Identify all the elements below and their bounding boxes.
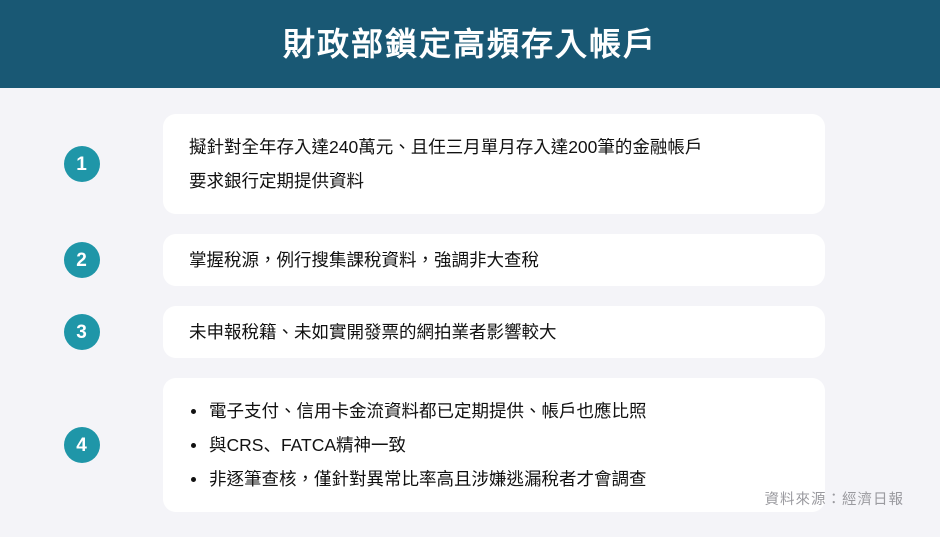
list-item: 2 掌握稅源，例行搜集課稅資料，強調非大查稅 bbox=[0, 234, 825, 286]
item-card: 未申報稅籍、未如實開發票的網拍業者影響較大 bbox=[163, 306, 825, 358]
header-bar: 財政部鎖定高頻存入帳戶 bbox=[0, 0, 940, 88]
bullet-list: 電子支付、信用卡金流資料都已定期提供、帳戶也應比照 與CRS、FATCA精神一致… bbox=[189, 394, 801, 496]
item-card: 掌握稅源，例行搜集課稅資料，強調非大查稅 bbox=[163, 234, 825, 286]
item-text-line: 未申報稅籍、未如實開發票的網拍業者影響較大 bbox=[189, 315, 801, 349]
item-number-badge: 3 bbox=[64, 314, 100, 350]
bullet-item: 非逐筆查核，僅針對異常比率高且涉嫌逃漏稅者才會調查 bbox=[189, 462, 801, 496]
badge-column: 1 bbox=[0, 146, 163, 182]
item-text-line: 擬針對全年存入達240萬元、且任三月單月存入達200筆的金融帳戶 bbox=[189, 130, 801, 164]
item-number-badge: 2 bbox=[64, 242, 100, 278]
badge-column: 4 bbox=[0, 427, 163, 463]
item-text-line: 要求銀行定期提供資料 bbox=[189, 164, 801, 198]
list-item: 3 未申報稅籍、未如實開發票的網拍業者影響較大 bbox=[0, 306, 825, 358]
item-card: 擬針對全年存入達240萬元、且任三月單月存入達200筆的金融帳戶 要求銀行定期提… bbox=[163, 114, 825, 214]
list-item: 1 擬針對全年存入達240萬元、且任三月單月存入達200筆的金融帳戶 要求銀行定… bbox=[0, 114, 825, 214]
badge-column: 3 bbox=[0, 314, 163, 350]
page-title: 財政部鎖定高頻存入帳戶 bbox=[283, 28, 657, 60]
badge-column: 2 bbox=[0, 242, 163, 278]
item-number-badge: 4 bbox=[64, 427, 100, 463]
item-number-badge: 1 bbox=[64, 146, 100, 182]
source-attribution: 資料來源：經濟日報 bbox=[765, 488, 905, 509]
item-text-line: 掌握稅源，例行搜集課稅資料，強調非大查稅 bbox=[189, 243, 801, 277]
item-card: 電子支付、信用卡金流資料都已定期提供、帳戶也應比照 與CRS、FATCA精神一致… bbox=[163, 378, 825, 512]
bullet-item: 與CRS、FATCA精神一致 bbox=[189, 428, 801, 462]
items-list: 1 擬針對全年存入達240萬元、且任三月單月存入達200筆的金融帳戶 要求銀行定… bbox=[0, 88, 940, 512]
list-item: 4 電子支付、信用卡金流資料都已定期提供、帳戶也應比照 與CRS、FATCA精神… bbox=[0, 378, 825, 512]
bullet-item: 電子支付、信用卡金流資料都已定期提供、帳戶也應比照 bbox=[189, 394, 801, 428]
